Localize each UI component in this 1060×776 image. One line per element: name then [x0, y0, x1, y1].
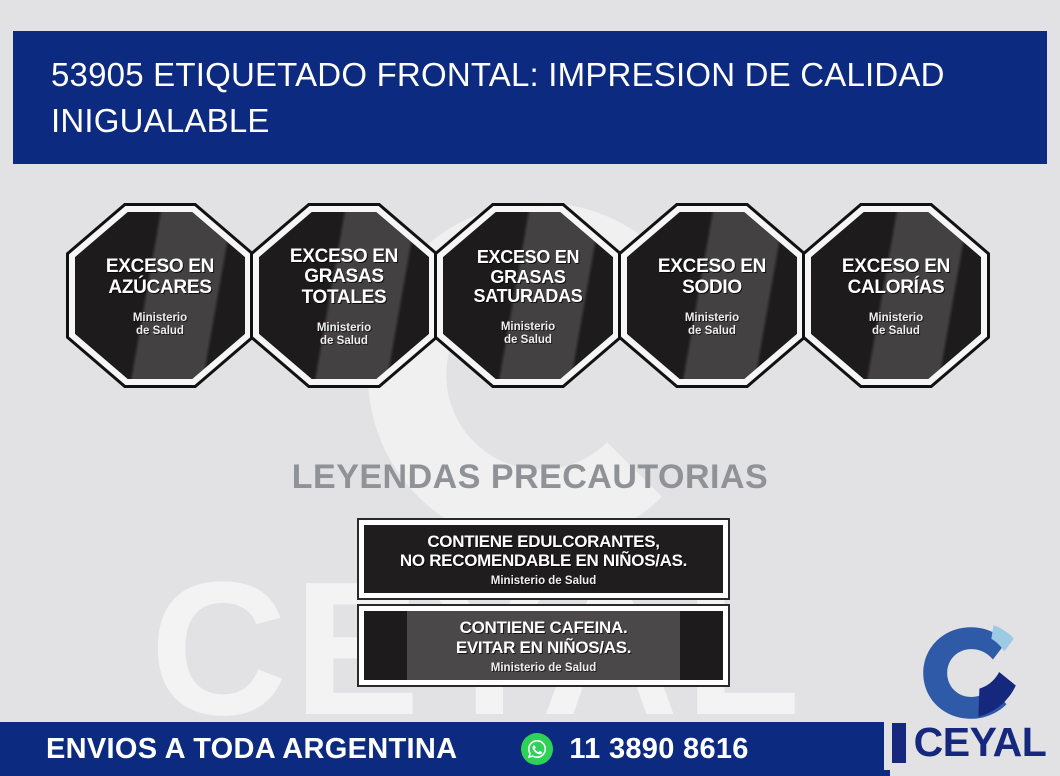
phone-number[interactable]: 11 3890 8616: [569, 733, 748, 766]
seal-label: EXCESO EN GRASAS SATURADAS: [474, 248, 583, 306]
ceyal-logo: CEYAL: [884, 618, 1054, 770]
legend-label: CONTIENE EDULCORANTES, NO RECOMENDABLE E…: [370, 532, 717, 570]
warning-seals-row: EXCESO EN AZÚCARES Ministerio de Salud E…: [66, 203, 1006, 388]
seal-ministry-label: Ministerio de Salud: [501, 321, 555, 347]
footer-bar: ENVIOS A TODA ARGENTINA 11 3890 8616: [0, 722, 890, 776]
seal-ministry-label: Ministerio de Salud: [685, 312, 739, 338]
page-title: 53905 ETIQUETADO FRONTAL: IMPRESION DE C…: [13, 52, 973, 143]
legend-label: CONTIENE CAFEINA. EVITAR EN NIÑOS/AS.: [370, 618, 717, 656]
seal-ministry-label: Ministerio de Salud: [317, 322, 371, 348]
seal-label: EXCESO EN CALORÍAS: [842, 257, 950, 298]
whatsapp-contact[interactable]: 11 3890 8616: [521, 733, 748, 766]
legends-heading: LEYENDAS PRECAUTORIAS: [0, 458, 1060, 497]
seal-ministry-label: Ministerio de Salud: [133, 312, 187, 338]
seal-exceso-en-grasas-totales: EXCESO EN GRASAS TOTALES Ministerio de S…: [250, 203, 438, 388]
legend-ministry-label: Ministerio de Salud: [370, 575, 717, 587]
seal-label: EXCESO EN AZÚCARES: [106, 257, 214, 298]
legend-ministry-label: Ministerio de Salud: [370, 662, 717, 674]
seal-ministry-label: Ministerio de Salud: [869, 312, 923, 338]
whatsapp-icon[interactable]: [521, 733, 553, 765]
ceyal-accent-bar: [892, 723, 906, 763]
seal-label: EXCESO EN GRASAS TOTALES: [290, 247, 398, 309]
seal-exceso-en-sodio: EXCESO EN SODIO Ministerio de Salud: [618, 203, 806, 388]
ceyal-c-mark-icon: [915, 620, 1023, 724]
seal-label: EXCESO EN SODIO: [658, 257, 766, 298]
ceyal-wordmark: CEYAL: [892, 722, 1047, 763]
shipping-text: ENVIOS A TODA ARGENTINA: [46, 733, 457, 766]
ceyal-brand-name: CEYAL: [914, 722, 1047, 763]
header-bar: 53905 ETIQUETADO FRONTAL: IMPRESION DE C…: [13, 31, 1047, 164]
legend-contiene-edulcorantes: CONTIENE EDULCORANTES, NO RECOMENDABLE E…: [357, 518, 730, 600]
seal-exceso-en-grasas-saturadas: EXCESO EN GRASAS SATURADAS Ministerio de…: [434, 203, 622, 388]
precautionary-legends: CONTIENE EDULCORANTES, NO RECOMENDABLE E…: [357, 518, 730, 687]
legend-contiene-cafeina: CONTIENE CAFEINA. EVITAR EN NIÑOS/AS. Mi…: [357, 604, 730, 686]
seal-exceso-en-calorias: EXCESO EN CALORÍAS Ministerio de Salud: [802, 203, 990, 388]
seal-exceso-en-azucares: EXCESO EN AZÚCARES Ministerio de Salud: [66, 203, 254, 388]
